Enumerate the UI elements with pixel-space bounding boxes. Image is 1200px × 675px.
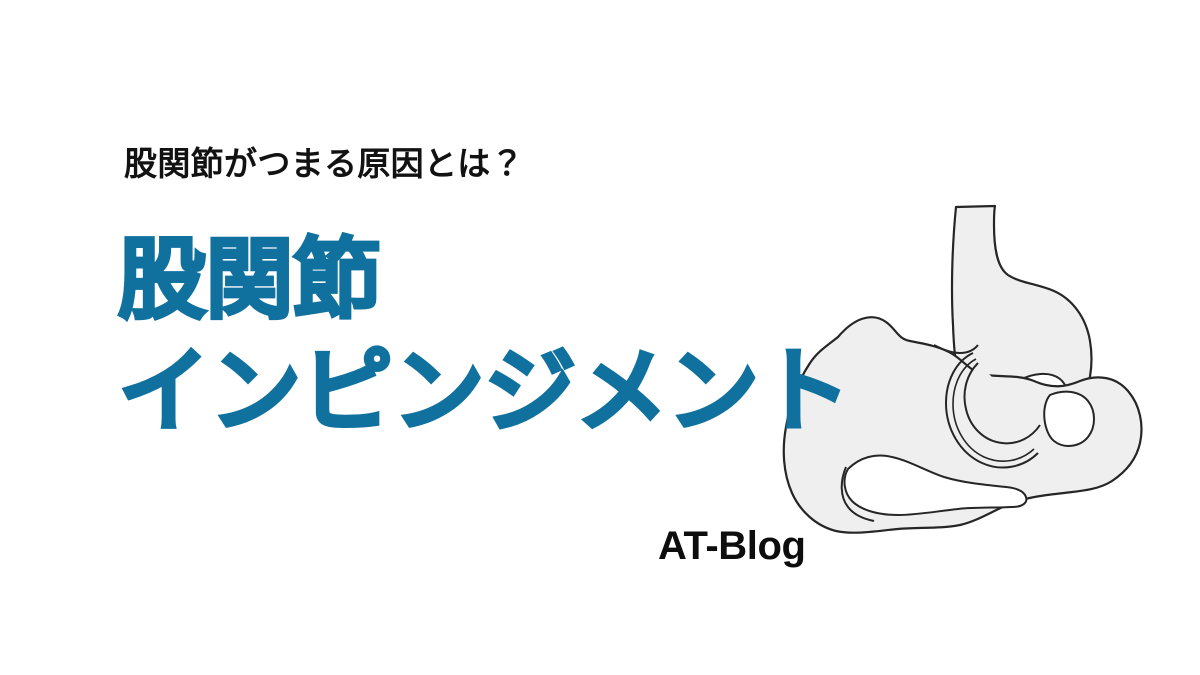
femur-bone [952,206,1092,438]
title-line-1: 股関節 [118,236,948,324]
title-line-2: インピンジメント [118,346,948,438]
eyebrow-text: 股関節がつまる原因とは？ [124,146,524,182]
femoral-head [965,363,1041,443]
obturator-foramen [1044,392,1094,446]
acetabulum-outer-ring [946,353,1038,468]
ischial-separation-line [842,467,874,521]
acetabulum-inner-ring [953,359,1034,461]
greater-trochanter [1013,374,1068,424]
thumbnail-canvas: 股関節がつまる原因とは？ 股関節 インピンジメント AT-Blog [0,0,1200,675]
page-title: 股関節 インピンジメント [118,236,948,438]
ischium-ramus [845,456,1027,516]
brand-label: AT-Blog [658,524,806,569]
